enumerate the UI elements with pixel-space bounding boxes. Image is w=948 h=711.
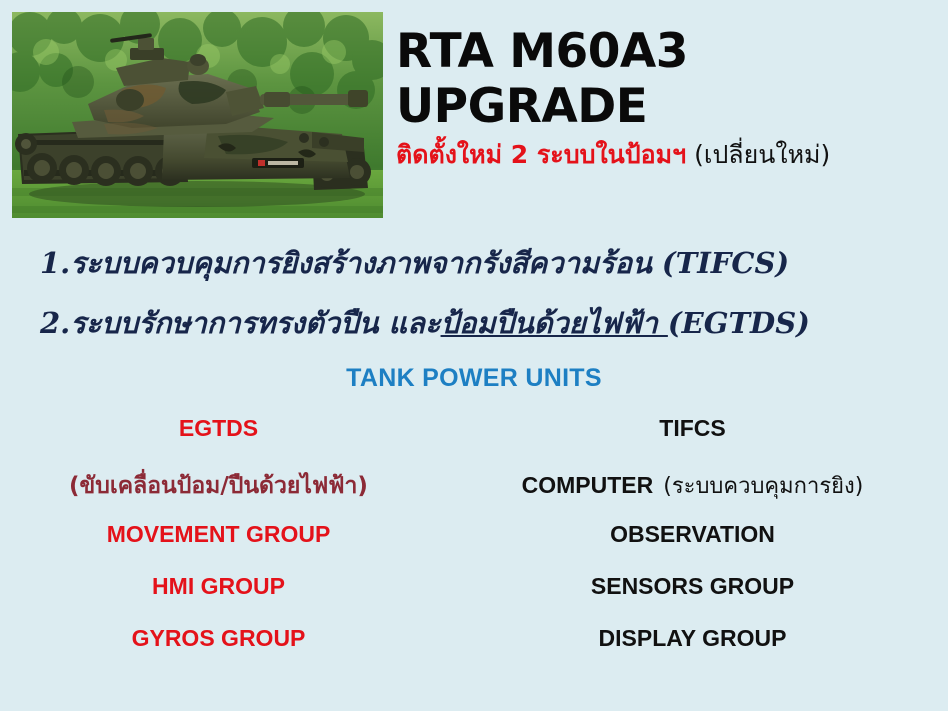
group-left-label-3: GYROS GROUP [132, 625, 306, 651]
right-column-header: TIFCS [659, 415, 725, 441]
numbered-line-2-prefix: 2.ระบบรักษาการทรงตัวปืน และ [40, 306, 441, 340]
numbered-line-1: 1.ระบบควบคุมการยิงสร้างภาพจากรังสีความร้… [40, 240, 940, 286]
numbered-line-2-suffix: (EGTDS) [668, 306, 810, 340]
group-right-label-2: SENSORS GROUP [591, 573, 794, 599]
column-headers-row: EGTDS TIFCS [0, 415, 948, 468]
group-right-label-3: DISPLAY GROUP [599, 625, 787, 651]
numbered-line-2-underlined: ป้อมปืนด้วยไฟฟ้า [441, 306, 668, 340]
page-title: RTA M60A3 UPGRADE [396, 24, 941, 134]
right-column-subtitle-thai: (ระบบควบคุมการยิง) [663, 474, 863, 499]
left-column-subtitle: (ขับเคลื่อนป้อม/ปืนด้วยไฟฟ้า) [69, 473, 368, 499]
left-column-header: EGTDS [179, 415, 258, 441]
group-row-3: GYROS GROUP DISPLAY GROUP [0, 625, 948, 677]
group-row-1: MOVEMENT GROUP OBSERVATION [0, 521, 948, 573]
group-left-cell-3: GYROS GROUP [0, 625, 437, 652]
subtitle-black-text: (เปลี่ยนใหม่) [694, 140, 830, 169]
group-right-cell-1: OBSERVATION [437, 521, 948, 548]
slide-canvas: RTA M60A3 UPGRADE ติดตั้งใหม่ 2 ระบบในป้… [0, 0, 948, 711]
group-left-label-1: MOVEMENT GROUP [107, 521, 331, 547]
tank-photo-image [12, 12, 383, 218]
group-right-cell-2: SENSORS GROUP [437, 573, 948, 600]
tank-photo [12, 12, 383, 218]
right-column-header-cell: TIFCS [437, 415, 948, 442]
column-subtitles-row: (ขับเคลื่อนป้อม/ปืนด้วยไฟฟ้า) COMPUTER(ร… [0, 468, 948, 521]
right-column-subtitle-cell: COMPUTER(ระบบควบคุมการยิง) [437, 468, 948, 503]
group-right-cell-3: DISPLAY GROUP [437, 625, 948, 652]
right-column-subtitle-computer: COMPUTER [522, 472, 654, 498]
title-block: RTA M60A3 UPGRADE ติดตั้งใหม่ 2 ระบบในป้… [396, 24, 941, 168]
left-column-header-cell: EGTDS [0, 415, 437, 442]
power-units-columns: EGTDS TIFCS (ขับเคลื่อนป้อม/ปืนด้วยไฟฟ้า… [0, 415, 948, 677]
left-column-subtitle-cell: (ขับเคลื่อนป้อม/ปืนด้วยไฟฟ้า) [0, 468, 437, 504]
right-subtitle-wrapper: COMPUTER(ระบบควบคุมการยิง) [522, 468, 864, 503]
group-left-cell-1: MOVEMENT GROUP [0, 521, 437, 548]
subtitle-line: ติดตั้งใหม่ 2 ระบบในป้อมฯ (เปลี่ยนใหม่) [396, 141, 941, 169]
group-right-label-1: OBSERVATION [610, 521, 775, 547]
subtitle-red-text: ติดตั้งใหม่ 2 ระบบในป้อมฯ [396, 140, 686, 169]
numbered-line-2: 2.ระบบรักษาการทรงตัวปืน และป้อมปืนด้วยไฟ… [40, 300, 940, 346]
group-left-cell-2: HMI GROUP [0, 573, 437, 600]
group-left-label-2: HMI GROUP [152, 573, 285, 599]
group-row-2: HMI GROUP SENSORS GROUP [0, 573, 948, 625]
section-heading-tank-power-units: TANK POWER UNITS [0, 364, 948, 393]
